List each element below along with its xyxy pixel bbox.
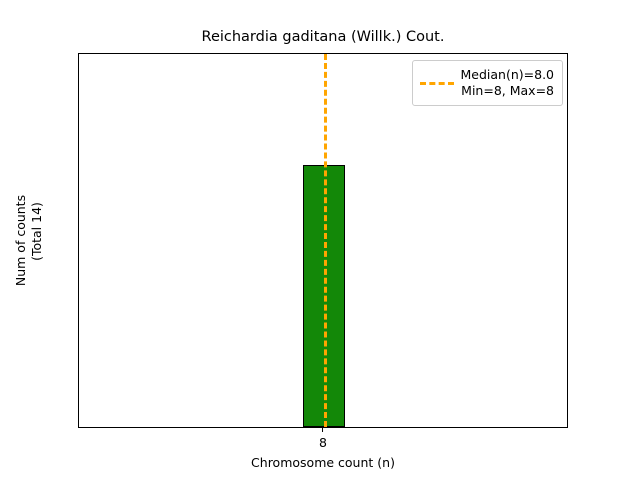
x-tick: 8 — [319, 428, 327, 450]
x-axis-label: Chromosome count (n) — [78, 455, 568, 470]
legend-median-line-swatch — [420, 82, 454, 85]
legend-entry: Median(n)=8.0 — [461, 67, 555, 83]
legend-entry: Min=8, Max=8 — [461, 83, 554, 99]
legend-text: Median(n)=8.0Min=8, Max=8 — [461, 67, 555, 99]
y-tick-label: 0 — [78, 423, 79, 428]
x-tick-mark — [322, 428, 323, 432]
y-tick-mark — [78, 147, 79, 148]
plot-area: 02571012151720Median(n)=8.0Min=8, Max=8 — [78, 53, 568, 428]
y-axis-label-line1: Num of counts — [13, 195, 29, 286]
chart-figure: Reichardia gaditana (Willk.) Cout. Num o… — [0, 0, 640, 480]
y-tick-mark — [78, 241, 79, 242]
y-tick-mark — [78, 54, 79, 55]
y-tick-mark — [78, 297, 79, 298]
chart-title: Reichardia gaditana (Willk.) Cout. — [78, 28, 568, 46]
y-tick-mark — [78, 204, 79, 205]
y-axis-label: Num of counts (Total 14) — [12, 53, 46, 428]
median-line — [324, 54, 327, 427]
y-tick-mark — [78, 110, 79, 111]
legend: Median(n)=8.0Min=8, Max=8 — [412, 60, 564, 106]
y-tick-mark — [78, 335, 79, 336]
y-tick-mark — [78, 391, 79, 392]
y-axis-label-line2: (Total 14) — [29, 202, 45, 279]
x-tick-label: 8 — [319, 436, 327, 450]
